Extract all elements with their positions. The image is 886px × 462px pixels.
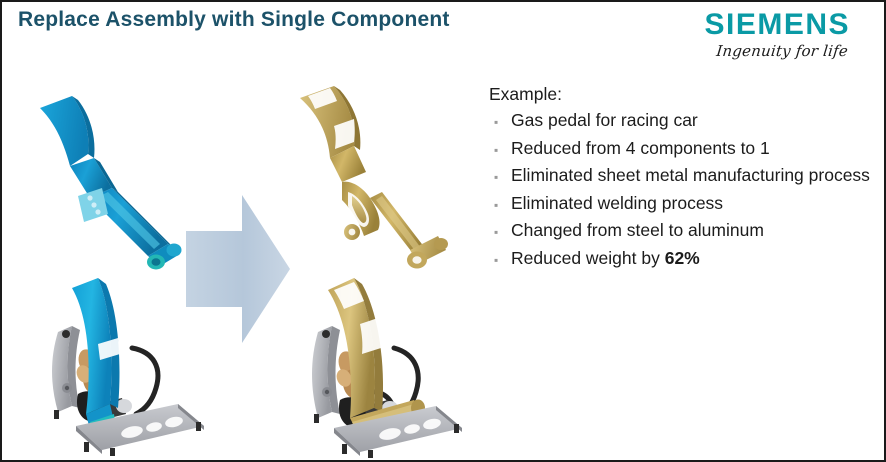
blue-pedal-in-mounting-bracket [36, 264, 226, 456]
gold-pedal-in-mounting-bracket [290, 268, 480, 458]
blue-pedal-assembly-isometric [28, 84, 198, 274]
copy-heading: Example: [489, 81, 881, 107]
bullet-dot-icon: ▪ [489, 248, 511, 274]
example-copy-block: Example: ▪ Gas pedal for racing car ▪ Re… [489, 81, 881, 273]
siemens-logo: SIEMENS Ingenuity for life [662, 10, 852, 60]
bullet-dot-icon: ▪ [489, 165, 511, 191]
bullet-dot-icon: ▪ [489, 138, 511, 164]
list-item: ▪ Eliminated welding process [489, 191, 881, 219]
list-item: ▪ Eliminated sheet metal manufacturing p… [489, 163, 881, 191]
brand-tagline: Ingenuity for life [661, 42, 853, 60]
list-item-label: Gas pedal for racing car [511, 108, 698, 134]
list-item: ▪ Gas pedal for racing car [489, 108, 881, 136]
gold-single-component-pedal-isometric [278, 80, 448, 276]
page-title: Replace Assembly with Single Component [18, 8, 450, 32]
list-item-label: Eliminated welding process [511, 191, 723, 217]
list-item-label: Changed from steel to aluminum [511, 218, 764, 244]
list-item-label: Reduced from 4 components to 1 [511, 136, 770, 162]
bullet-dot-icon: ▪ [489, 110, 511, 136]
slide-canvas: Replace Assembly with Single Component S… [0, 0, 886, 462]
list-item-label: Reduced weight by 62% [511, 246, 700, 272]
list-item: ▪ Changed from steel to aluminum [489, 218, 881, 246]
bullet-dot-icon: ▪ [489, 193, 511, 219]
list-item: ▪ Reduced from 4 components to 1 [489, 136, 881, 164]
brand-wordmark: SIEMENS [662, 10, 852, 40]
list-item-label: Eliminated sheet metal manufacturing pro… [511, 163, 870, 189]
list-item: ▪ Reduced weight by 62% [489, 246, 881, 274]
bullet-dot-icon: ▪ [489, 220, 511, 246]
